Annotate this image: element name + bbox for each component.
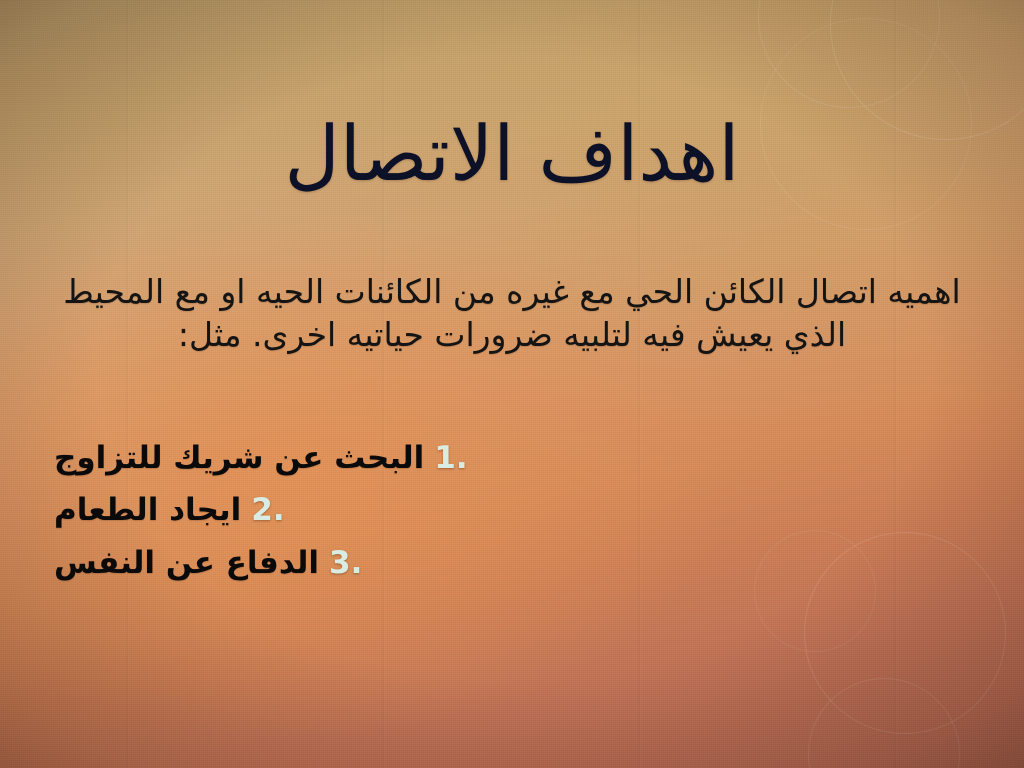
slide-content: اهداف الاتصال اهميه اتصال الكائن الحي مع… (0, 0, 1024, 768)
list-item-label: ايجاد الطعام (28, 490, 241, 530)
list-item-number: .2 (251, 490, 284, 530)
list-item: .3 الدفاع عن النفس (28, 543, 996, 583)
list-item-number: .1 (434, 438, 467, 478)
list-item: .1 البحث عن شريك للتزاوج (28, 438, 996, 478)
presentation-slide: اهداف الاتصال اهميه اتصال الكائن الحي مع… (0, 0, 1024, 768)
slide-title: اهداف الاتصال (26, 109, 998, 199)
list-item-number: .3 (329, 543, 362, 583)
list-item-label: البحث عن شريك للتزاوج (28, 438, 424, 478)
numbered-list: .1 البحث عن شريك للتزاوج .2 ايجاد الطعام… (28, 438, 996, 595)
list-item-label: الدفاع عن النفس (28, 543, 319, 583)
slide-body-paragraph: اهميه اتصال الكائن الحي مع غيره من الكائ… (48, 271, 976, 357)
list-item: .2 ايجاد الطعام (28, 490, 996, 530)
